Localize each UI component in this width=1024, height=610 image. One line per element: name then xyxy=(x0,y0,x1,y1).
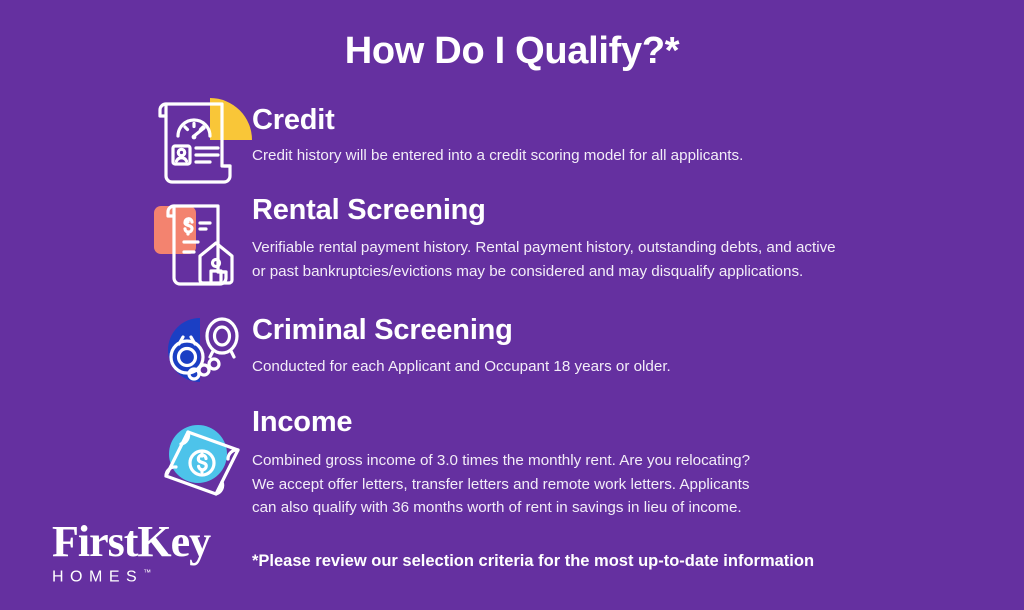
section-rental-body: Rental Screening Verifiable rental payme… xyxy=(252,194,1008,283)
section-rental-heading: Rental Screening xyxy=(252,194,1008,227)
handcuffs-icon xyxy=(154,300,254,400)
logo-subtitle-text: HOMES xyxy=(52,568,143,585)
trademark-symbol: ™ xyxy=(143,568,151,577)
footnote-text: *Please review our selection criteria fo… xyxy=(252,552,814,571)
section-credit-description: Credit history will be entered into a cr… xyxy=(252,144,1008,168)
banknotes-icon xyxy=(152,410,252,510)
rental-invoice-house-icon xyxy=(148,192,248,292)
description-line: Combined gross income of 3.0 times the m… xyxy=(252,449,1008,473)
description-line: or past bankruptcies/evictions may be co… xyxy=(252,260,1008,284)
section-income-heading: Income xyxy=(252,406,1008,439)
logo-wordmark: FirstKey xyxy=(52,520,252,564)
section-credit-heading: Credit xyxy=(252,104,1008,137)
description-line: can also qualify with 36 months worth of… xyxy=(252,496,1008,520)
section-credit-body: Credit Credit history will be entered in… xyxy=(252,104,1008,168)
firstkey-homes-logo: FirstKey HOMES™ xyxy=(52,520,252,590)
section-criminal-heading: Criminal Screening xyxy=(252,314,1008,347)
section-income-body: Income Combined gross income of 3.0 time… xyxy=(252,406,1008,520)
description-line: Conducted for each Applicant and Occupan… xyxy=(252,355,1008,379)
description-line: We accept offer letters, transfer letter… xyxy=(252,473,1008,497)
section-criminal-body: Criminal Screening Conducted for each Ap… xyxy=(252,314,1008,379)
section-criminal-description: Conducted for each Applicant and Occupan… xyxy=(252,355,1008,379)
logo-subtitle: HOMES™ xyxy=(52,568,151,586)
qualification-infographic: How Do I Qualify?* xyxy=(0,0,1024,610)
page-title: How Do I Qualify?* xyxy=(0,30,1024,73)
description-line: Credit history will be entered into a cr… xyxy=(252,144,1008,168)
section-rental-description: Verifiable rental payment history. Renta… xyxy=(252,236,1008,283)
section-income-description: Combined gross income of 3.0 times the m… xyxy=(252,449,1008,520)
credit-report-icon xyxy=(152,90,252,190)
description-line: Verifiable rental payment history. Renta… xyxy=(252,236,1008,260)
